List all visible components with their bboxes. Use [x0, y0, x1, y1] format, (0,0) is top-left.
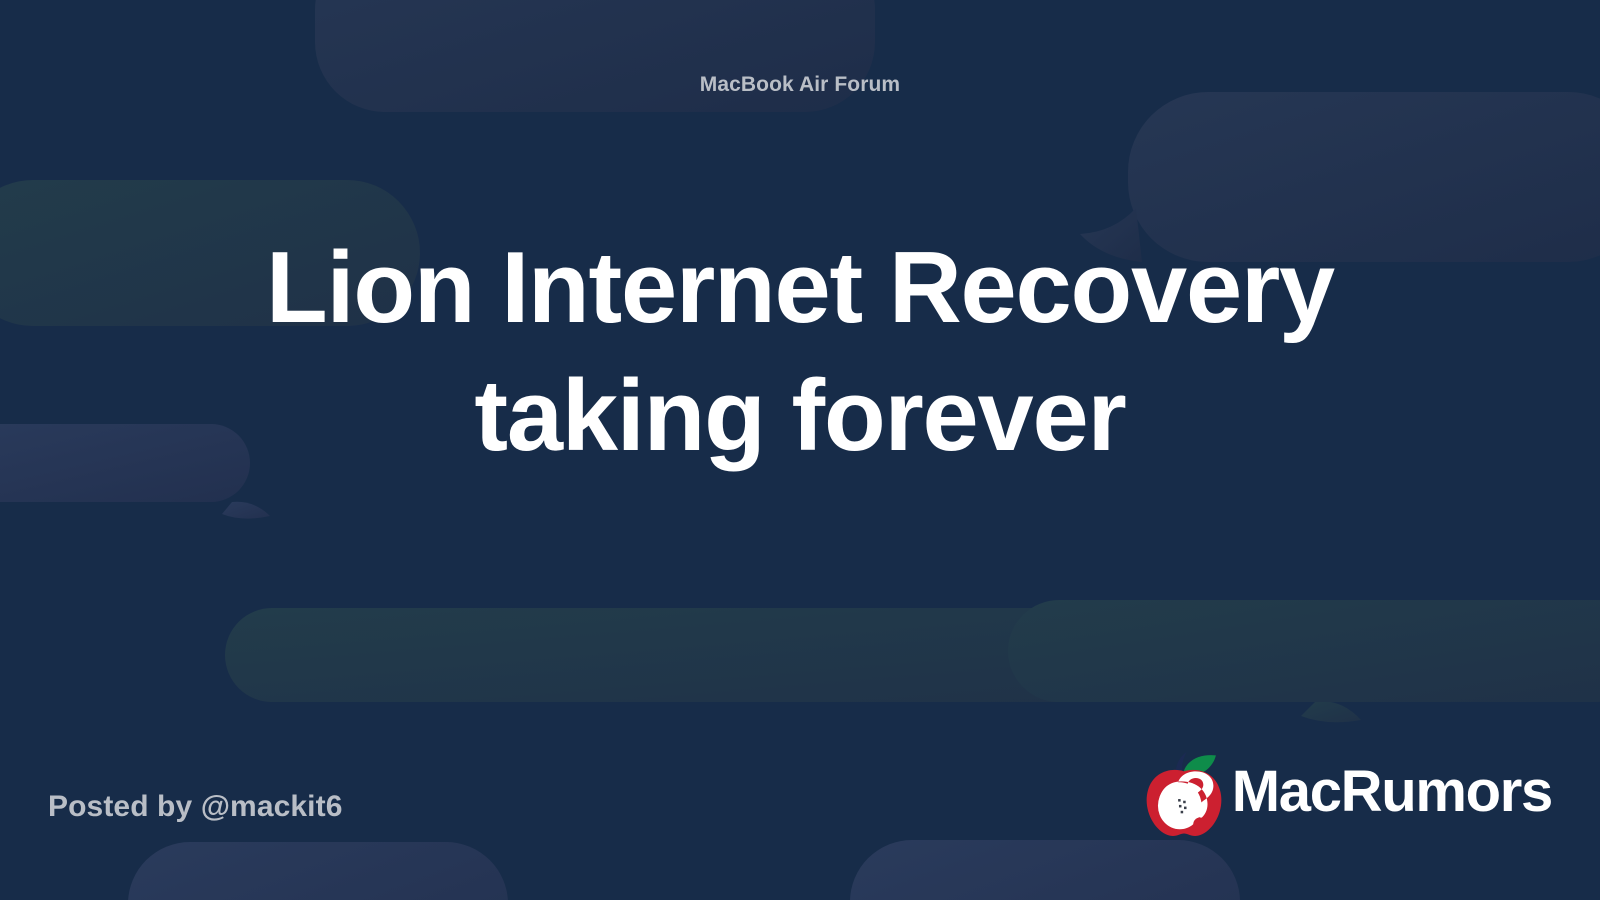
brand-wordmark: MacRumors — [1232, 763, 1552, 825]
bubble-bottom-right — [850, 840, 1240, 900]
bubble-center-teal — [225, 608, 1361, 722]
macrumors-apple-icon — [1142, 750, 1226, 838]
social-share-card: MacBook Air Forum Lion Internet Recovery… — [0, 0, 1600, 900]
bubble-right-lower — [1008, 600, 1600, 702]
bubble-bottom-left — [128, 842, 508, 900]
page-title-container: Lion Internet Recovery taking forever — [250, 224, 1350, 480]
posted-by-label: Posted by @mackit6 — [48, 792, 343, 822]
forum-label: MacBook Air Forum — [0, 74, 1600, 95]
bubble-left-mid — [0, 424, 270, 519]
page-title: Lion Internet Recovery taking forever — [250, 224, 1350, 480]
brand-logo: MacRumors — [1142, 750, 1552, 838]
